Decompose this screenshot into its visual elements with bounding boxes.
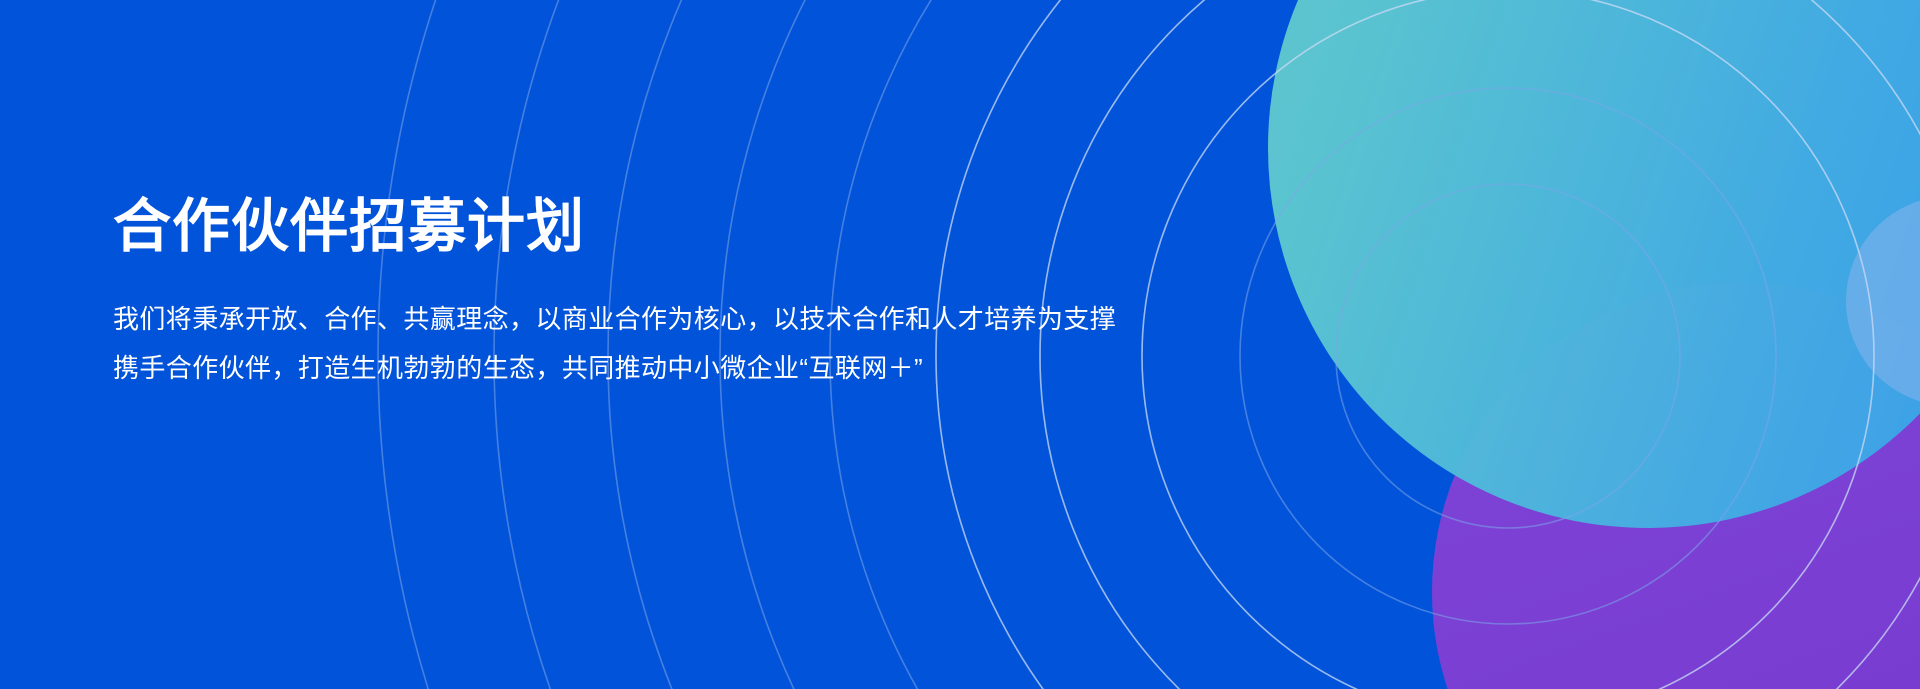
accent-circle-decoration [1846, 196, 1920, 406]
subtitle-line-1: 我们将秉承开放、合作、共赢理念，以商业合作为核心，以技术合作和人才培养为支撑 [113, 295, 1613, 343]
subtitle-line-2: 携手合作伙伴，打造生机勃勃的生态，共同推动中小微企业“互联网＋” [113, 344, 1613, 392]
banner-subtitle: 我们将秉承开放、合作、共赢理念，以商业合作为核心，以技术合作和人才培养为支撑 携… [113, 295, 1613, 391]
banner-content: 合作伙伴招募计划 我们将秉承开放、合作、共赢理念，以商业合作为核心，以技术合作和… [113, 196, 1613, 392]
partner-recruitment-banner: 合作伙伴招募计划 我们将秉承开放、合作、共赢理念，以商业合作为核心，以技术合作和… [0, 0, 1920, 689]
page-title: 合作伙伴招募计划 [113, 196, 1613, 257]
